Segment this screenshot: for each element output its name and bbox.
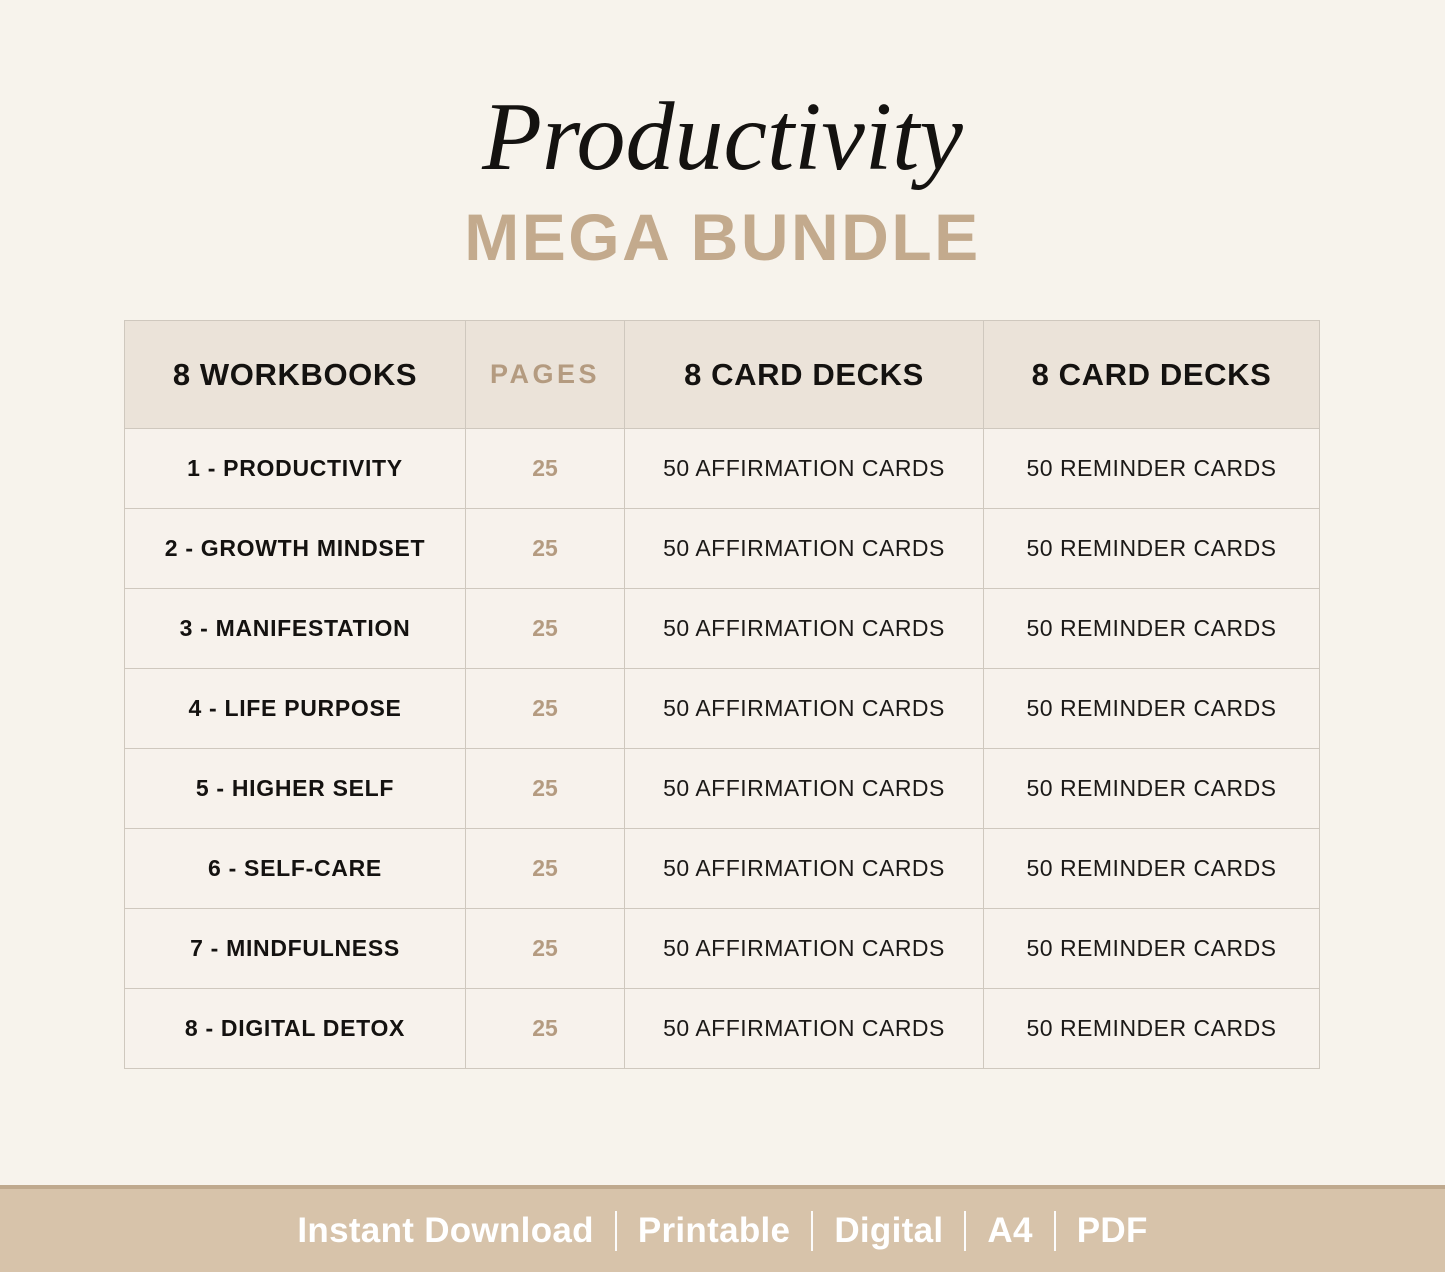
- page-title: Productivity MEGA BUNDLE: [0, 0, 1445, 270]
- table-row: 5 - HIGHER SELF 25 50 AFFIRMATION CARDS …: [125, 749, 1320, 829]
- cell-deck-b: 50 REMINDER CARDS: [984, 829, 1320, 909]
- cell-deck-b: 50 REMINDER CARDS: [984, 749, 1320, 829]
- cell-pages: 25: [466, 909, 625, 989]
- cell-workbook: 3 - MANIFESTATION: [125, 589, 466, 669]
- cell-workbook: 4 - LIFE PURPOSE: [125, 669, 466, 749]
- cell-pages: 25: [466, 429, 625, 509]
- cell-pages: 25: [466, 509, 625, 589]
- cell-pages: 25: [466, 829, 625, 909]
- cell-deck-b: 50 REMINDER CARDS: [984, 669, 1320, 749]
- banner-divider: [964, 1211, 966, 1251]
- cell-pages: 25: [466, 749, 625, 829]
- table-row: 3 - MANIFESTATION 25 50 AFFIRMATION CARD…: [125, 589, 1320, 669]
- cell-deck-a: 50 AFFIRMATION CARDS: [625, 509, 984, 589]
- footer-banner: Instant Download Printable Digital A4 PD…: [0, 1185, 1445, 1272]
- cell-pages: 25: [466, 989, 625, 1069]
- banner-divider: [811, 1211, 813, 1251]
- title-bundle-line: MEGA BUNDLE: [0, 204, 1445, 270]
- cell-deck-b: 50 REMINDER CARDS: [984, 589, 1320, 669]
- cell-deck-a: 50 AFFIRMATION CARDS: [625, 429, 984, 509]
- banner-item-a4: A4: [966, 1211, 1053, 1251]
- cell-workbook: 7 - MINDFULNESS: [125, 909, 466, 989]
- column-header-workbooks: 8 WORKBOOKS: [125, 321, 466, 429]
- banner-item-printable: Printable: [617, 1211, 811, 1251]
- banner-item-instant-download: Instant Download: [276, 1211, 614, 1251]
- cell-deck-a: 50 AFFIRMATION CARDS: [625, 749, 984, 829]
- cell-deck-a: 50 AFFIRMATION CARDS: [625, 909, 984, 989]
- bundle-contents-table: 8 WORKBOOKS PAGES 8 CARD DECKS 8 CARD DE…: [124, 320, 1319, 1069]
- cell-deck-a: 50 AFFIRMATION CARDS: [625, 589, 984, 669]
- table-row: 7 - MINDFULNESS 25 50 AFFIRMATION CARDS …: [125, 909, 1320, 989]
- column-header-pages: PAGES: [466, 321, 625, 429]
- column-header-card-decks-b: 8 CARD DECKS: [984, 321, 1320, 429]
- cell-deck-b: 50 REMINDER CARDS: [984, 909, 1320, 989]
- table-row: 4 - LIFE PURPOSE 25 50 AFFIRMATION CARDS…: [125, 669, 1320, 749]
- cell-deck-a: 50 AFFIRMATION CARDS: [625, 669, 984, 749]
- column-header-card-decks-a: 8 CARD DECKS: [625, 321, 984, 429]
- table-row: 1 - PRODUCTIVITY 25 50 AFFIRMATION CARDS…: [125, 429, 1320, 509]
- banner-divider: [1054, 1211, 1056, 1251]
- cell-pages: 25: [466, 669, 625, 749]
- banner-item-digital: Digital: [813, 1211, 964, 1251]
- cell-deck-a: 50 AFFIRMATION CARDS: [625, 989, 984, 1069]
- table-row: 2 - GROWTH MINDSET 25 50 AFFIRMATION CAR…: [125, 509, 1320, 589]
- cell-deck-a: 50 AFFIRMATION CARDS: [625, 829, 984, 909]
- banner-divider: [615, 1211, 617, 1251]
- cell-pages: 25: [466, 589, 625, 669]
- cell-deck-b: 50 REMINDER CARDS: [984, 509, 1320, 589]
- cell-workbook: 1 - PRODUCTIVITY: [125, 429, 466, 509]
- cell-workbook: 5 - HIGHER SELF: [125, 749, 466, 829]
- table-row: 6 - SELF-CARE 25 50 AFFIRMATION CARDS 50…: [125, 829, 1320, 909]
- table-header-row: 8 WORKBOOKS PAGES 8 CARD DECKS 8 CARD DE…: [125, 321, 1320, 429]
- cell-workbook: 2 - GROWTH MINDSET: [125, 509, 466, 589]
- cell-deck-b: 50 REMINDER CARDS: [984, 429, 1320, 509]
- banner-item-pdf: PDF: [1056, 1211, 1169, 1251]
- cell-deck-b: 50 REMINDER CARDS: [984, 989, 1320, 1069]
- cell-workbook: 8 - DIGITAL DETOX: [125, 989, 466, 1069]
- table-row: 8 - DIGITAL DETOX 25 50 AFFIRMATION CARD…: [125, 989, 1320, 1069]
- cell-workbook: 6 - SELF-CARE: [125, 829, 466, 909]
- title-script-line: Productivity: [0, 88, 1445, 186]
